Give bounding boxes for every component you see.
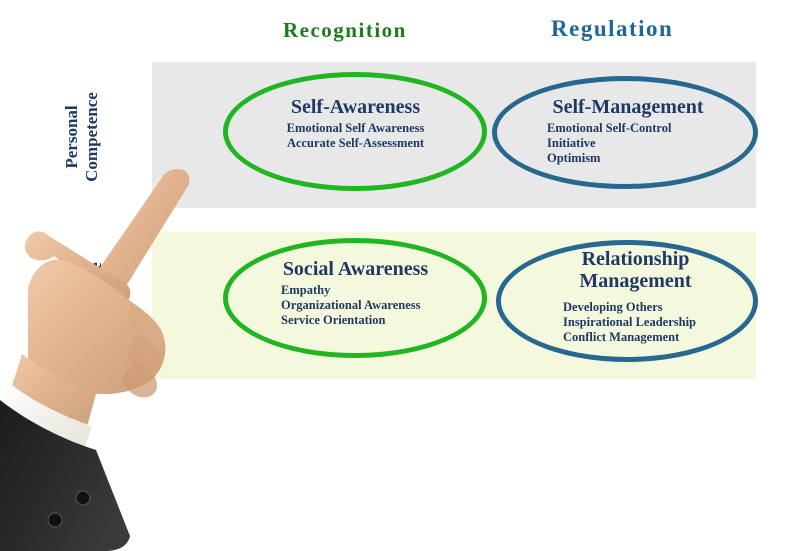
list-item: Optimism: [547, 151, 733, 166]
index-finger: [98, 169, 190, 291]
quadrant-self-management: Self-Management Emotional Self-Control I…: [523, 96, 733, 166]
quadrant-relationship-management: Relationship Management Developing Other…: [533, 248, 738, 345]
quadrant-items-self-awareness: Emotional Self Awareness Accurate Self-A…: [253, 121, 458, 151]
column-header-recognition: Recognition: [283, 18, 407, 43]
list-item: Initiative: [547, 136, 733, 151]
list-item: Empathy: [281, 283, 458, 298]
list-item: Service Orientation: [281, 313, 458, 328]
list-item: Developing Others: [563, 300, 738, 315]
pointing-hand-illustration: [0, 168, 210, 551]
quadrant-title-relationship-management: Relationship Management: [533, 248, 738, 292]
list-item: Emotional Self-Control: [547, 121, 733, 136]
quadrant-title-social-awareness: Social Awareness: [253, 258, 458, 280]
emotional-intelligence-diagram: Recognition Regulation Personal Competen…: [0, 0, 800, 551]
sleeve-button-2: [48, 513, 62, 527]
column-header-regulation: Regulation: [551, 16, 673, 42]
list-item: Organizational Awareness: [281, 298, 458, 313]
list-item: Conflict Management: [563, 330, 738, 345]
quadrant-title-self-management: Self-Management: [523, 96, 733, 118]
quadrant-items-social-awareness: Empathy Organizational Awareness Service…: [253, 283, 458, 328]
list-item: Inspirational Leadership: [563, 315, 738, 330]
quadrant-social-awareness: Social Awareness Empathy Organizational …: [253, 258, 458, 328]
quadrant-self-awareness: Self-Awareness Emotional Self Awareness …: [253, 96, 458, 151]
quadrant-items-relationship-management: Developing Others Inspirational Leadersh…: [533, 300, 738, 345]
list-item: Accurate Self-Assessment: [253, 136, 458, 151]
sleeve-button-1: [76, 491, 90, 505]
quadrant-items-self-management: Emotional Self-Control Initiative Optimi…: [523, 121, 733, 166]
quadrant-title-self-awareness: Self-Awareness: [253, 96, 458, 118]
list-item: Emotional Self Awareness: [253, 121, 458, 136]
